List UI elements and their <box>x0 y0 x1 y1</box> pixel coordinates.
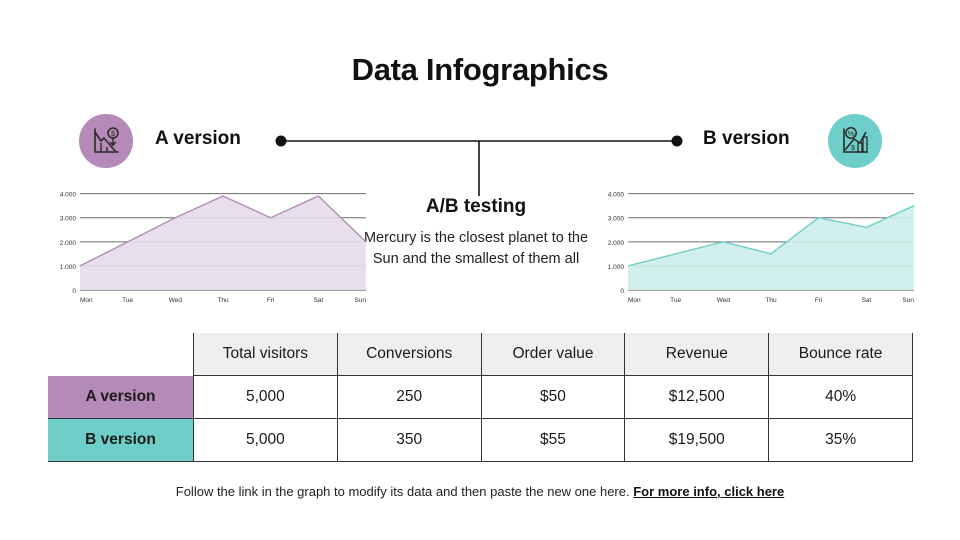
svg-text:Fri: Fri <box>815 297 823 304</box>
connector-node-b <box>672 136 683 147</box>
svg-text:Wed: Wed <box>169 297 183 304</box>
column-header-bounce-rate: Bounce rate <box>769 333 913 376</box>
rising-chart-percent-icon: % $ <box>828 114 882 168</box>
table-header-row: Total visitors Conversions Order value R… <box>48 333 913 376</box>
table-row: B version 5,000 350 $55 $19,500 35% <box>48 419 913 462</box>
cell-a-revenue: $12,500 <box>625 376 769 419</box>
column-header-order-value: Order value <box>481 333 625 376</box>
svg-text:1.000: 1.000 <box>60 264 77 271</box>
svg-text:4.000: 4.000 <box>608 192 625 199</box>
center-body: Mercury is the closest planet to the Sun… <box>360 228 592 269</box>
svg-text:0: 0 <box>620 288 624 295</box>
cell-b-order-value: $55 <box>481 419 625 462</box>
cell-b-conversions: 350 <box>337 419 481 462</box>
column-header-conversions: Conversions <box>337 333 481 376</box>
row-label-a-version: A version <box>48 376 194 419</box>
svg-text:Thu: Thu <box>765 297 777 304</box>
svg-text:Sun: Sun <box>902 297 914 304</box>
row-label-b-version: B version <box>48 419 194 462</box>
svg-text:2.000: 2.000 <box>608 240 625 247</box>
page-title: Data Infographics <box>0 52 960 88</box>
center-text-block: A/B testing Mercury is the closest plane… <box>360 196 592 269</box>
svg-text:Sat: Sat <box>861 297 871 304</box>
svg-text:Sun: Sun <box>354 297 366 304</box>
svg-text:1.000: 1.000 <box>608 264 625 271</box>
cell-a-total-visitors: 5,000 <box>194 376 338 419</box>
connector-node-a <box>276 136 287 147</box>
table-row: A version 5,000 250 $50 $12,500 40% <box>48 376 913 419</box>
svg-text:Wed: Wed <box>717 297 731 304</box>
svg-text:Mon: Mon <box>80 297 93 304</box>
svg-text:Thu: Thu <box>217 297 229 304</box>
cell-a-bounce-rate: 40% <box>769 376 913 419</box>
cell-b-total-visitors: 5,000 <box>194 419 338 462</box>
svg-text:3.000: 3.000 <box>608 216 625 223</box>
svg-text:0: 0 <box>72 288 76 295</box>
footer-note: Follow the link in the graph to modify i… <box>0 484 960 499</box>
chart-a-version: 01.0002.0003.0004.000MonTueWedThuFriSatS… <box>48 178 368 308</box>
svg-text:Sat: Sat <box>313 297 323 304</box>
svg-text:Tue: Tue <box>122 297 133 304</box>
footer-link[interactable]: For more info, click here <box>633 484 784 499</box>
chart-b-version: 01.0002.0003.0004.000MonTueWedThuFriSatS… <box>596 178 916 308</box>
svg-text:2.000: 2.000 <box>60 240 77 247</box>
column-header-revenue: Revenue <box>625 333 769 376</box>
declining-chart-money-icon: $ <box>79 114 133 168</box>
label-a-version: A version <box>155 128 241 150</box>
svg-text:$: $ <box>851 145 855 152</box>
svg-text:Mon: Mon <box>628 297 641 304</box>
svg-text:3.000: 3.000 <box>60 216 77 223</box>
footer-text: Follow the link in the graph to modify i… <box>176 484 630 499</box>
column-header-total-visitors: Total visitors <box>194 333 338 376</box>
table-corner-cell <box>48 333 194 376</box>
cell-b-revenue: $19,500 <box>625 419 769 462</box>
svg-text:%: % <box>848 129 855 138</box>
cell-a-order-value: $50 <box>481 376 625 419</box>
label-b-version: B version <box>703 128 790 150</box>
svg-text:$: $ <box>111 131 115 138</box>
svg-text:Fri: Fri <box>267 297 275 304</box>
svg-text:Tue: Tue <box>670 297 681 304</box>
svg-text:4.000: 4.000 <box>60 192 77 199</box>
ab-comparison-table: Total visitors Conversions Order value R… <box>48 333 913 462</box>
cell-a-conversions: 250 <box>337 376 481 419</box>
center-heading: A/B testing <box>360 196 592 218</box>
cell-b-bounce-rate: 35% <box>769 419 913 462</box>
